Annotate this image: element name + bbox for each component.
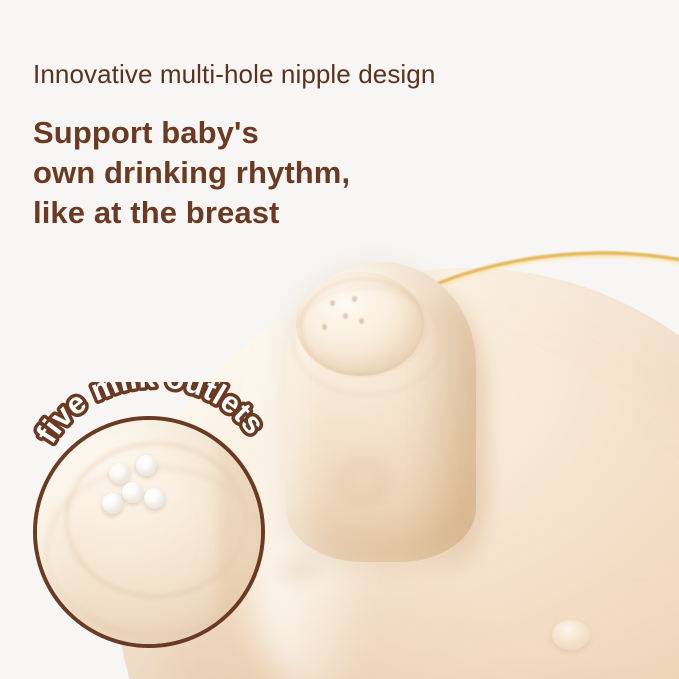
nipple-tip-ring-outer — [292, 286, 442, 396]
magnifier-callout — [33, 416, 265, 648]
nipple-hole-mark — [330, 300, 335, 306]
headline-line-2: own drinking rhythm, — [33, 153, 593, 193]
headline-line-3: like at the breast — [33, 193, 593, 233]
eyebrow-text: Innovative multi-hole nipple design — [33, 58, 593, 91]
headline-line-1: Support baby's — [33, 113, 593, 153]
nipple-hole-mark — [322, 324, 327, 330]
page-title: Support baby's own drinking rhythm, like… — [33, 113, 593, 234]
milk-outlet-dot — [109, 463, 130, 484]
dome-nub — [552, 620, 590, 650]
nipple-teat-base-flare — [262, 452, 392, 582]
magnifier-content — [37, 420, 261, 644]
magnified-dome-edge — [219, 420, 261, 644]
product-feature-image: five milk outlets Innovative multi-hole … — [0, 0, 679, 679]
text-block: Innovative multi-hole nipple design Supp… — [33, 58, 593, 233]
magnifier-ring — [33, 416, 265, 648]
nipple-hole-mark — [343, 313, 348, 319]
milk-outlet-dot — [102, 493, 123, 514]
milk-outlet-dot — [144, 488, 165, 509]
nipple-hole-mark — [359, 318, 364, 324]
milk-outlet-dot — [136, 455, 157, 476]
milk-outlet-dot — [122, 482, 143, 503]
nipple-hole-mark — [352, 296, 357, 302]
